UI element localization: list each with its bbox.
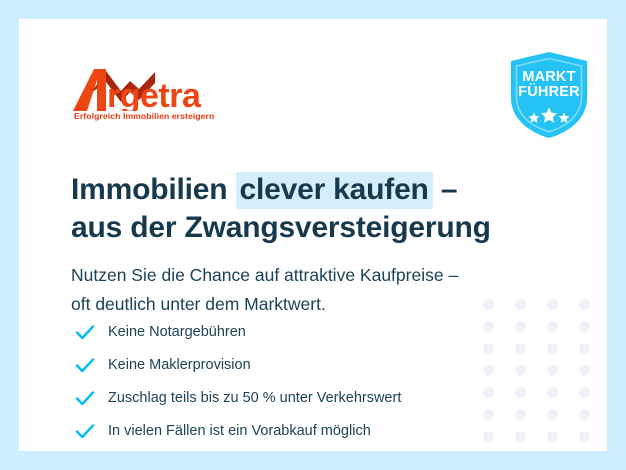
list-item-label: In vielen Fällen ist ein Vorabkauf mögli… [108, 424, 371, 439]
benefit-list: Keine Notargebühren Keine Maklerprovisio… [74, 317, 524, 449]
check-icon [74, 420, 96, 442]
badge-text: MARKT FÜHRER [508, 70, 590, 100]
list-item: Keine Notargebühren [74, 317, 524, 347]
list-item: Keine Maklerprovision [74, 350, 524, 380]
argetra-logo[interactable]: rgetra Erfolgreich Immobilien ersteigern [73, 63, 223, 125]
dot [579, 299, 590, 310]
dot [579, 409, 590, 420]
dot [547, 431, 558, 442]
dot [579, 365, 590, 376]
dot [547, 321, 558, 332]
headline-part1: Immobilien [71, 173, 236, 206]
promo-banner: rgetra Erfolgreich Immobilien ersteigern… [0, 0, 626, 470]
argetra-logo-tagline: Erfolgreich Immobilien ersteigern [74, 111, 214, 121]
dot [579, 387, 590, 398]
dot [579, 431, 590, 442]
headline-part2: – [433, 173, 458, 206]
svg-text:rgetra: rgetra [107, 77, 202, 111]
headline-line2: aus der Zwangsversteigerung [71, 211, 491, 244]
list-item-label: Keine Notargebühren [108, 325, 246, 340]
subheading-line2: oft deutlich unter dem Marktwert. [71, 294, 326, 314]
subheading: Nutzen Sie die Chance auf attraktive Kau… [71, 261, 551, 319]
markt-fuehrer-badge: MARKT FÜHRER [508, 50, 590, 140]
dot [547, 387, 558, 398]
dot [579, 343, 590, 354]
dot [547, 365, 558, 376]
list-item-label: Zuschlag teils bis zu 50 % unter Verkehr… [108, 391, 401, 406]
headline-highlight: clever kaufen [236, 172, 433, 209]
dot [547, 409, 558, 420]
subheading-line1: Nutzen Sie die Chance auf attraktive Kau… [71, 265, 458, 285]
list-item: Zuschlag teils bis zu 50 % unter Verkehr… [74, 383, 524, 413]
check-icon [74, 321, 96, 343]
argetra-logo-mark-icon: rgetra [73, 63, 223, 111]
page-title: Immobilien clever kaufen – aus der Zwang… [71, 171, 541, 247]
promo-card: rgetra Erfolgreich Immobilien ersteigern… [19, 19, 607, 451]
badge-line-markt: MARKT [508, 70, 590, 85]
check-icon [74, 354, 96, 376]
badge-line-fuehrer: FÜHRER [508, 85, 590, 100]
list-item: In vielen Fällen ist ein Vorabkauf mögli… [74, 416, 524, 446]
list-item-label: Keine Maklerprovision [108, 358, 251, 373]
check-icon [74, 387, 96, 409]
dot [547, 343, 558, 354]
dot [579, 321, 590, 332]
